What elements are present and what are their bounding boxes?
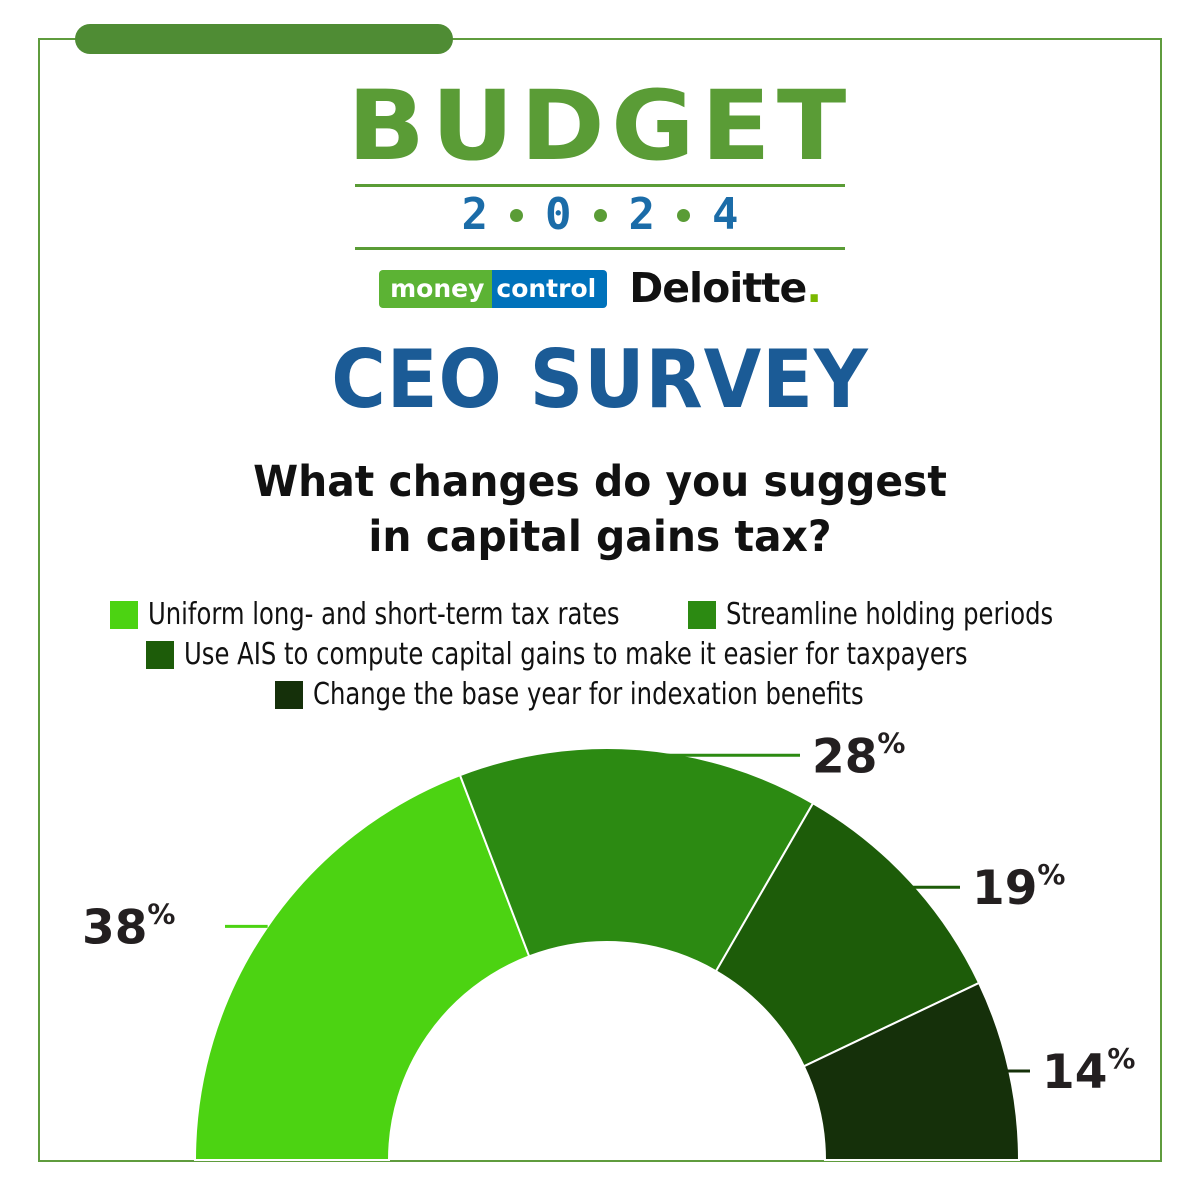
legend-item-uniform-rates: Uniform long- and short-term tax rates	[110, 598, 672, 631]
year-separator-dot-1	[510, 209, 523, 222]
brand-row: moneycontrol Deloitte.	[0, 268, 1200, 309]
legend-item-base-year: Change the base year for indexation bene…	[275, 678, 925, 711]
moneycontrol-logo: moneycontrol	[379, 270, 607, 308]
legend-label-3: Use AIS to compute capital gains to make…	[184, 638, 967, 671]
survey-question: What changes do you suggest in capital g…	[30, 455, 1170, 565]
semicircle-donut-chart: 38%28%19%14%	[0, 720, 1200, 1190]
legend-row-2: Use AIS to compute capital gains to make…	[0, 638, 1200, 671]
moneycontrol-logo-money: money	[379, 270, 492, 308]
infographic-root: BUDGET 2 0 2 4 moneycontrol Deloitte. CE…	[0, 0, 1200, 1200]
donut-slice-1	[195, 775, 529, 1160]
legend-label-4: Change the base year for indexation bene…	[313, 678, 864, 711]
legend-item-use-ais: Use AIS to compute capital gains to make…	[146, 638, 1055, 671]
survey-question-line-2: in capital gains tax?	[30, 510, 1170, 565]
donut-slice-group	[195, 748, 1019, 1160]
page-title: CEO SURVEY	[42, 340, 1158, 420]
survey-question-line-1: What changes do you suggest	[30, 455, 1170, 510]
legend-swatch-icon-2	[688, 601, 716, 629]
legend-row-3: Change the base year for indexation bene…	[0, 678, 1200, 711]
budget-logo-rule-top	[355, 184, 845, 187]
donut-chart-area: 38%28%19%14%	[0, 720, 1200, 1190]
legend-label-1: Uniform long- and short-term tax rates	[148, 598, 620, 631]
chart-legend: Uniform long- and short-term tax rates S…	[0, 598, 1200, 718]
year-separator-dot-2	[594, 209, 607, 222]
deloitte-logo-name: Deloitte	[629, 264, 806, 312]
legend-row-1: Uniform long- and short-term tax rates S…	[0, 598, 1200, 631]
legend-swatch-icon-1	[110, 601, 138, 629]
deloitte-logo: Deloitte.	[629, 268, 821, 309]
budget-logo: BUDGET 2 0 2 4	[0, 78, 1200, 250]
legend-swatch-icon-3	[146, 641, 174, 669]
year-separator-dot-3	[677, 209, 690, 222]
budget-logo-year: 2 0 2 4	[355, 193, 845, 237]
deloitte-logo-dot: .	[806, 264, 821, 312]
year-digit-3: 2	[629, 193, 656, 237]
percent-label-2: 28%	[812, 726, 905, 784]
year-digit-1: 2	[462, 193, 489, 237]
budget-logo-rule-bottom	[355, 247, 845, 250]
frame-accent-bar	[75, 24, 453, 54]
legend-label-2: Streamline holding periods	[726, 598, 1053, 631]
budget-logo-word: BUDGET	[0, 78, 1200, 174]
legend-item-streamline-holding: Streamline holding periods	[688, 598, 1090, 631]
year-digit-4: 4	[712, 193, 739, 237]
year-digit-2: 0	[545, 193, 572, 237]
percent-label-1: 38%	[82, 897, 175, 955]
moneycontrol-logo-control: control	[492, 270, 607, 308]
percent-label-4: 14%	[1042, 1042, 1135, 1100]
percent-label-3: 19%	[972, 858, 1065, 916]
legend-swatch-icon-4	[275, 681, 303, 709]
